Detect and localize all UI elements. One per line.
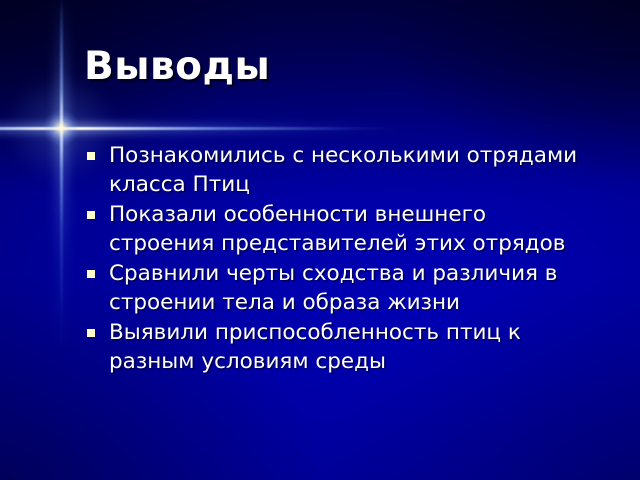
list-item-text: Выявили приспособленность птиц к разным … (109, 318, 596, 376)
list-item: Показали особенности внешнего строения п… (84, 200, 596, 258)
square-bullet-icon (87, 270, 95, 278)
square-bullet-icon (87, 329, 95, 337)
square-bullet-icon (87, 152, 95, 160)
list-item: Сравнили черты сходства и различия в стр… (84, 259, 596, 317)
list-item-text: Показали особенности внешнего строения п… (109, 200, 596, 258)
list-item: Познакомились с несколькими отрядами кла… (84, 141, 596, 199)
slide-title: Выводы (84, 44, 270, 90)
list-item: Выявили приспособленность птиц к разным … (84, 318, 596, 376)
list-item-text: Познакомились с несколькими отрядами кла… (109, 141, 596, 199)
list-item-text: Сравнили черты сходства и различия в стр… (109, 259, 596, 317)
presentation-slide: Выводы Познакомились с несколькими отряд… (0, 0, 640, 480)
slide-bullet-list: Познакомились с несколькими отрядами кла… (84, 141, 596, 377)
square-bullet-icon (87, 211, 95, 219)
